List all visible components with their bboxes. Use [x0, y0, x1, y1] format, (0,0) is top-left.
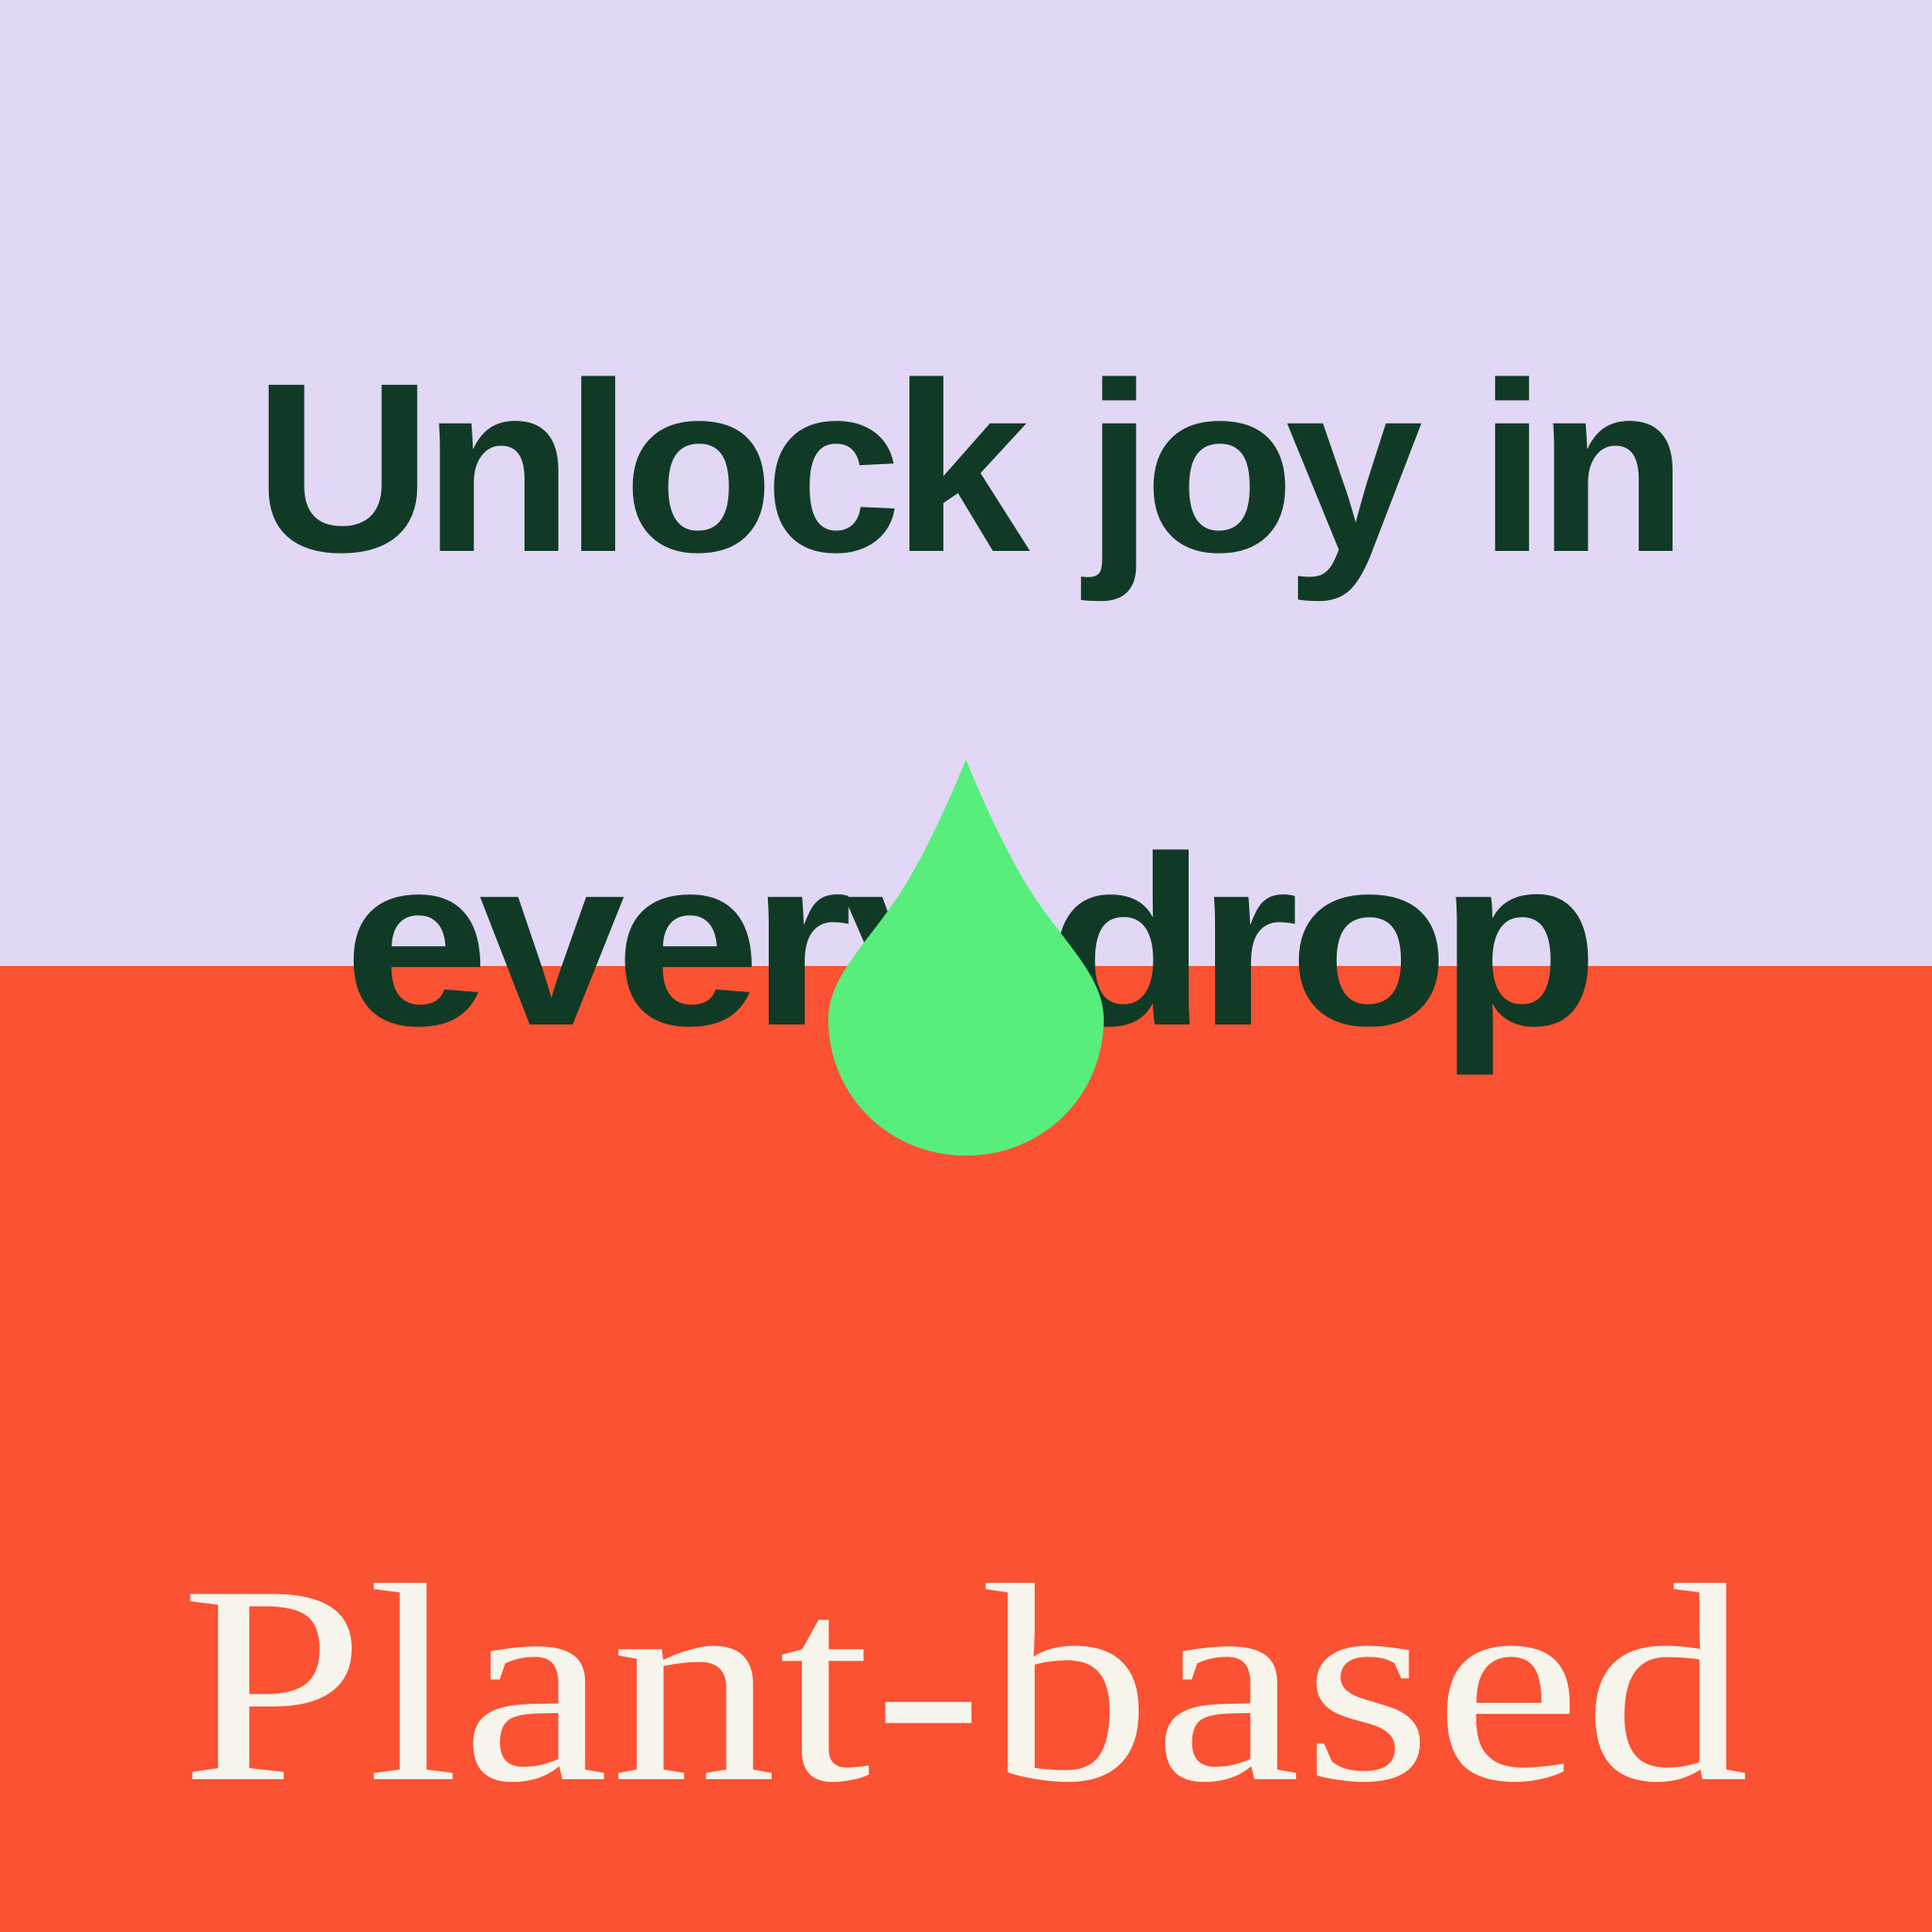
- promo-poster: Unlock joy in every drop Plant-based eve…: [0, 0, 1932, 1932]
- headline-line-1: Unlock joy in: [0, 350, 1932, 587]
- subheadline-line-1: Plant-based: [0, 1522, 1932, 1847]
- water-drop-shape: [824, 755, 1108, 1160]
- subheadline: Plant-based everyday bliss: [193, 1196, 1739, 1932]
- water-drop-icon: [824, 755, 1108, 1160]
